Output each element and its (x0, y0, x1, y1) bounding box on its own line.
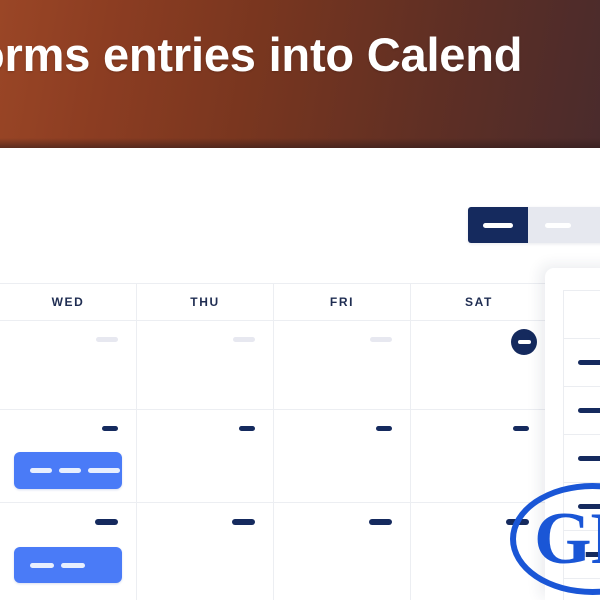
list-row-placeholder (578, 552, 600, 557)
date-placeholder (95, 519, 118, 525)
calendar-week-2 (0, 410, 548, 503)
calendar-cell-thu-3[interactable] (137, 503, 274, 600)
date-placeholder (370, 337, 392, 342)
calendar-week-1 (0, 321, 548, 410)
date-placeholder (233, 337, 255, 342)
event-label-placeholder (88, 468, 120, 473)
date-placeholder (376, 426, 392, 431)
calendar-cell-wed-1[interactable] (0, 321, 137, 409)
side-panel-list (563, 290, 600, 600)
selected-date-badge[interactable] (511, 329, 537, 355)
calendar-cell-thu-1[interactable] (137, 321, 274, 409)
list-row-placeholder (578, 456, 600, 461)
banner-title: orms entries into Calend (0, 27, 522, 83)
screenshot-root: orms entries into Calend WED THU FRI SAT (0, 0, 600, 600)
list-row-5[interactable] (564, 483, 600, 531)
date-placeholder (232, 519, 255, 525)
day-header-wed: WED (0, 284, 137, 320)
list-row-3[interactable] (564, 387, 600, 435)
calendar-cell-fri-1[interactable] (274, 321, 411, 409)
list-row-placeholder (578, 360, 600, 365)
segment-day[interactable] (588, 207, 600, 243)
list-row-6[interactable] (564, 531, 600, 579)
calendar-cell-fri-2[interactable] (274, 410, 411, 502)
segment-week[interactable] (528, 207, 588, 243)
event-label-placeholder (59, 468, 81, 473)
date-placeholder (369, 519, 392, 525)
calendar-cell-sat-1[interactable] (411, 321, 548, 409)
event-block-wed-3[interactable] (14, 547, 122, 583)
view-segmented-control[interactable] (468, 207, 600, 243)
event-label-placeholder (30, 563, 54, 568)
calendar-week-3 (0, 503, 548, 600)
day-header-thu: THU (137, 284, 274, 320)
list-row-2[interactable] (564, 339, 600, 387)
side-panel-card (545, 268, 600, 600)
list-row-placeholder (578, 408, 600, 413)
list-row-4[interactable] (564, 435, 600, 483)
date-badge-label (518, 340, 531, 344)
segment-label-placeholder (545, 223, 571, 228)
segment-label-placeholder (483, 223, 513, 228)
calendar-day-header-row: WED THU FRI SAT (0, 284, 548, 321)
day-header-fri: FRI (274, 284, 411, 320)
day-header-sat: SAT (411, 284, 548, 320)
segment-month[interactable] (468, 207, 528, 243)
date-placeholder (239, 426, 255, 431)
event-block-wed-2[interactable] (14, 452, 122, 489)
date-placeholder (96, 337, 118, 342)
calendar-cell-fri-3[interactable] (274, 503, 411, 600)
event-label-placeholder (61, 563, 85, 568)
calendar-cell-wed-3[interactable] (0, 503, 137, 600)
calendar-cell-sat-3[interactable] (411, 503, 548, 600)
list-row-placeholder (578, 312, 600, 317)
date-placeholder (513, 426, 529, 431)
calendar-cell-wed-2[interactable] (0, 410, 137, 502)
event-label-placeholder (30, 468, 52, 473)
date-placeholder (102, 426, 118, 431)
calendar-grid: WED THU FRI SAT (0, 283, 548, 600)
list-row-1[interactable] (564, 291, 600, 339)
calendar-cell-sat-2[interactable] (411, 410, 548, 502)
calendar-cell-thu-2[interactable] (137, 410, 274, 502)
list-row-7[interactable] (564, 579, 600, 600)
date-placeholder (506, 519, 529, 525)
hero-banner: orms entries into Calend (0, 0, 600, 148)
list-row-placeholder (578, 504, 600, 509)
